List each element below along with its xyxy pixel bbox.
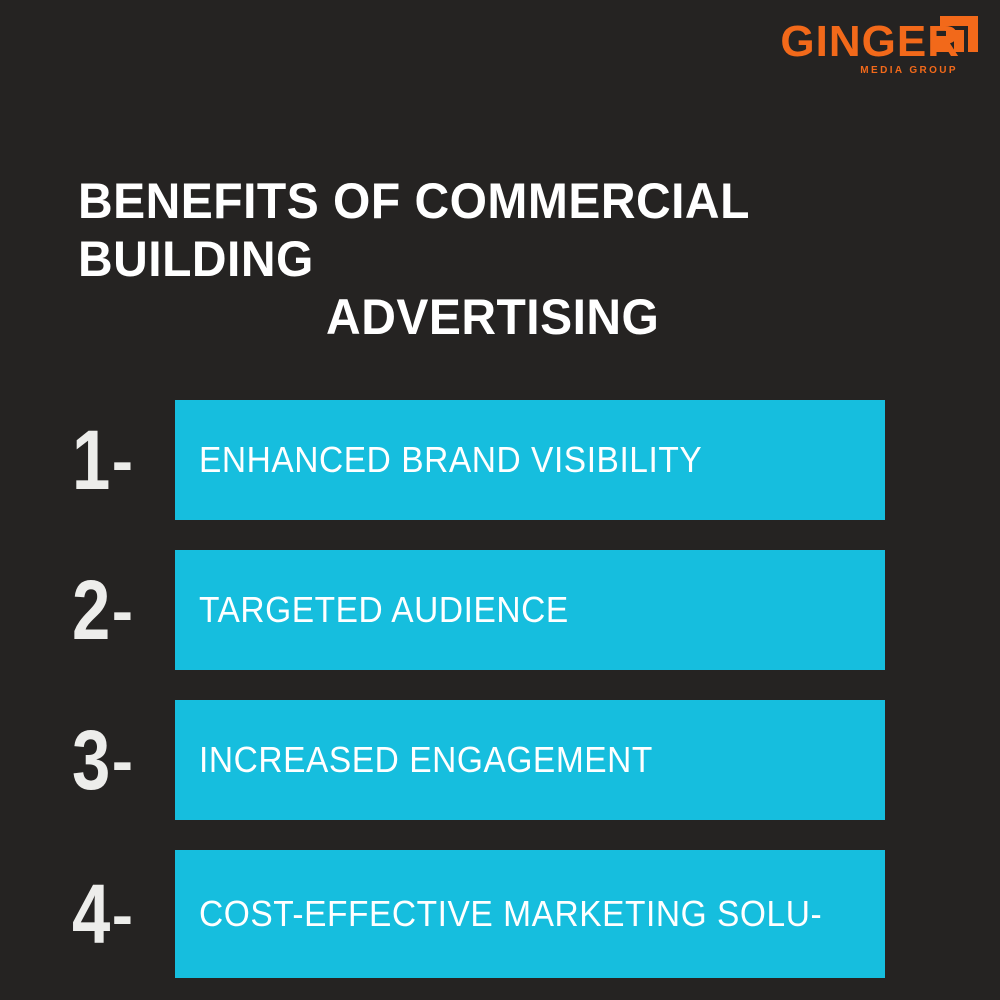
list-item-number: 2- <box>72 568 172 652</box>
list-item: 4- COST-EFFECTIVE MARKETING SOLU- <box>0 850 1000 978</box>
list-item-digit: 2 <box>72 568 109 652</box>
list-item-label: COST-EFFECTIVE MARKETING SOLU- <box>199 893 822 935</box>
brand-logo: GINGER MEDIA GROUP <box>762 6 982 92</box>
list-item: 3- INCREASED ENGAGEMENT <box>0 700 1000 820</box>
nested-corner-squares-icon <box>936 12 982 56</box>
list-item-bar: ENHANCED BRAND VISIBILITY <box>175 400 885 520</box>
list-item-bar: TARGETED AUDIENCE <box>175 550 885 670</box>
page-title: BENEFITS OF COMMERCIAL BUILDING ADVERTIS… <box>78 172 907 346</box>
list-item-bar: COST-EFFECTIVE MARKETING SOLU- <box>175 850 885 978</box>
list-item-digit: 1 <box>72 418 109 502</box>
logo-wordmark: GINGER <box>780 20 960 64</box>
infographic-poster: GINGER MEDIA GROUP BENEFITS OF COMMERCIA… <box>0 0 1000 1000</box>
list-item: 2- TARGETED AUDIENCE <box>0 550 1000 670</box>
list-item-number: 3- <box>72 718 172 802</box>
list-item-dash: - <box>112 883 132 947</box>
page-title-line-1: BENEFITS OF COMMERCIAL BUILDING <box>78 172 907 288</box>
list-item-dash: - <box>112 579 132 643</box>
list-item-number: 4- <box>72 872 172 956</box>
list-item-label: TARGETED AUDIENCE <box>199 589 569 631</box>
list-item: 1- ENHANCED BRAND VISIBILITY <box>0 400 1000 520</box>
benefits-list: 1- ENHANCED BRAND VISIBILITY 2- TARGETED… <box>0 400 1000 978</box>
list-item-label: INCREASED ENGAGEMENT <box>199 739 653 781</box>
list-item-bar: INCREASED ENGAGEMENT <box>175 700 885 820</box>
list-item-dash: - <box>112 729 132 793</box>
list-item-digit: 3 <box>72 718 109 802</box>
list-item-digit: 4 <box>72 872 109 956</box>
logo-subtext: MEDIA GROUP <box>860 66 958 76</box>
list-item-dash: - <box>112 429 132 493</box>
list-item-number: 1- <box>72 418 172 502</box>
list-item-label: ENHANCED BRAND VISIBILITY <box>199 439 702 481</box>
page-title-line-2: ADVERTISING <box>78 288 907 346</box>
